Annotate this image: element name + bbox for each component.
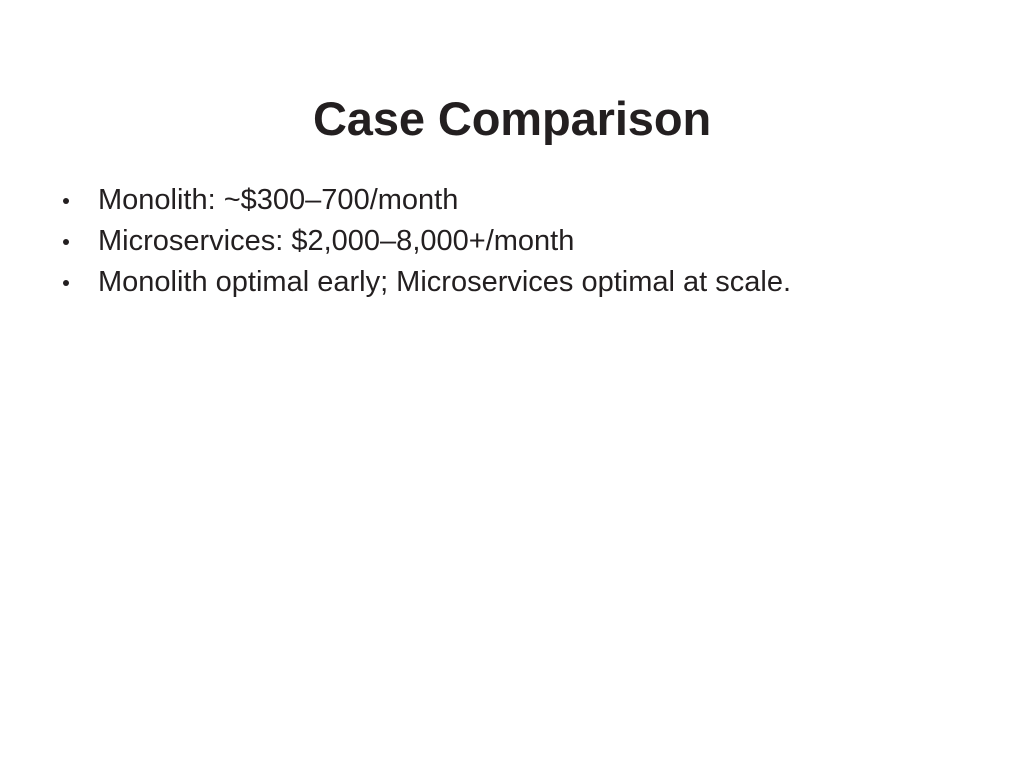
list-item: Microservices: $2,000–8,000+/month [0,221,1024,262]
list-item-label: Monolith optimal early; Microservices op… [98,265,791,300]
slide-canvas: Case Comparison Monolith: ~$300–700/mont… [0,0,1024,767]
bullet-list: Monolith: ~$300–700/month Microservices:… [0,180,1024,303]
bullet-dot-icon [63,280,69,286]
list-item-label: Monolith: ~$300–700/month [98,183,458,218]
page-title: Case Comparison [0,95,1024,142]
list-item: Monolith: ~$300–700/month [0,180,1024,221]
list-item: Monolith optimal early; Microservices op… [0,262,1024,303]
bullet-dot-icon [63,198,69,204]
bullet-dot-icon [63,239,69,245]
list-item-label: Microservices: $2,000–8,000+/month [98,224,574,259]
